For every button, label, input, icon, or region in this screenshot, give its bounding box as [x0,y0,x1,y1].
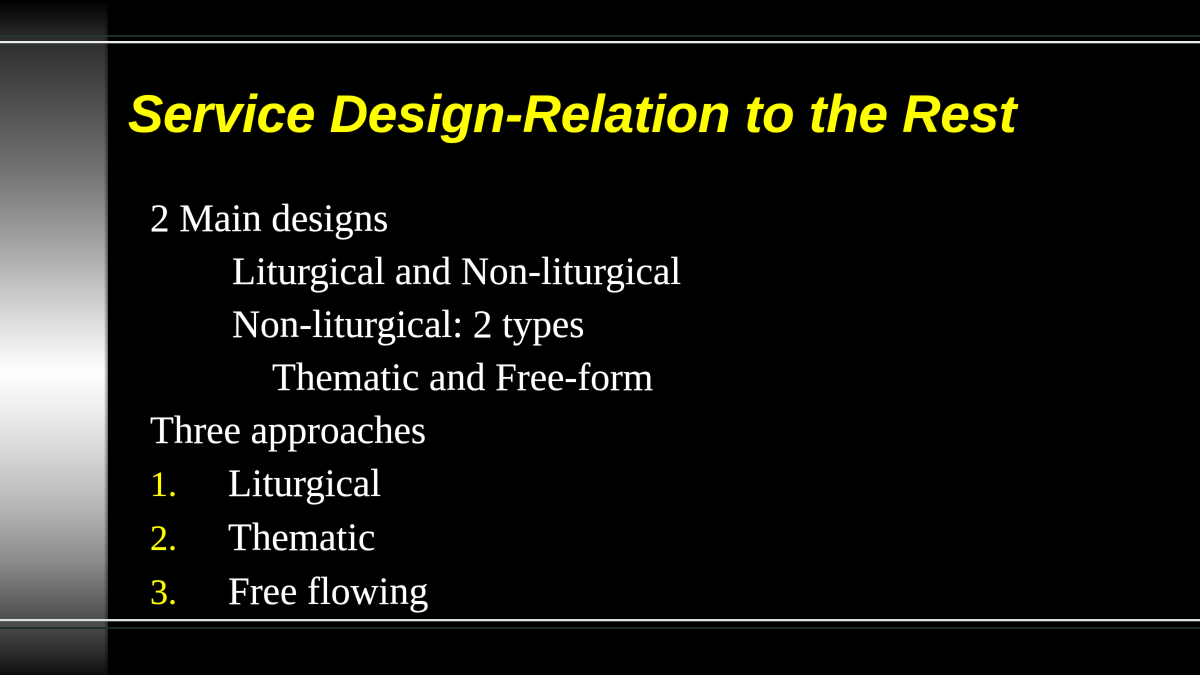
numbered-list-item: 2. Thematic [150,511,1180,565]
bottom-dim-rule [0,621,1200,622]
top-dim-rule [0,43,1200,44]
list-marker: 3. [150,566,228,619]
list-item-label: Free flowing [228,565,428,618]
top-teal-rule [0,35,1200,37]
list-item-label: Thematic [228,511,375,564]
slide-body: 2 Main designs Liturgical and Non-liturg… [150,192,1180,619]
body-line: 2 Main designs [150,192,1180,245]
list-item-label: Liturgical [228,457,381,510]
list-marker: 1. [150,458,228,511]
bottom-teal-rule [0,627,1200,629]
list-marker: 2. [150,512,228,565]
body-line: Thematic and Free-form [150,351,1180,404]
left-gradient-bar-fade [104,0,114,675]
body-line: Liturgical and Non-liturgical [150,245,1180,298]
left-gradient-bar [0,0,108,675]
body-line: Non-liturgical: 2 types [150,298,1180,351]
slide-title: Service Design-Relation to the Rest [128,84,1193,146]
presentation-slide: Service Design-Relation to the Rest 2 Ma… [0,0,1200,675]
numbered-list-item: 1. Liturgical [150,457,1180,511]
numbered-list-item: 3. Free flowing [150,565,1180,619]
body-line: Three approaches [150,404,1180,457]
